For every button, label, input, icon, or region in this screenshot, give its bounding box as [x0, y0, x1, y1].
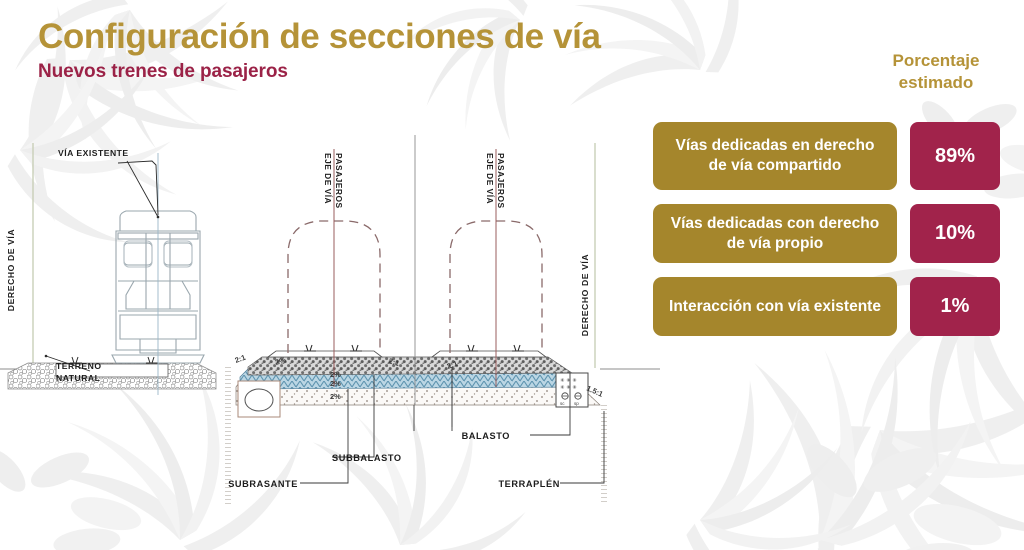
legend-row[interactable]: Vías dedicadas en derecho de vía compart…	[653, 122, 1003, 190]
label-derecho-de-via-left: DERECHO DE VÍA	[6, 229, 16, 311]
label-derecho-de-via-right: DERECHO DE VÍA	[580, 254, 590, 336]
hatch-legend-box: ✳ ✳ ✳ ✳ ✳ ✳ sc sp	[556, 373, 588, 407]
legend-row[interactable]: Interacción con vía existente 1%	[653, 277, 1003, 336]
cross-section-drawing: ✳ ✳ ✳ ✳ ✳ ✳ sc sp 2% 2% 2% 2% 2:1 2:1 2:…	[0, 105, 660, 525]
legend-row-value: 89%	[910, 122, 1000, 190]
svg-text:sp: sp	[574, 401, 579, 406]
label-eje-de-via-1-line2: PASAJEROS	[334, 153, 344, 209]
slope-label: 2:1	[234, 353, 247, 365]
legend-row-label: Vías dedicadas en derecho de vía compart…	[653, 122, 897, 190]
page-title: Configuración de secciones de vía	[38, 18, 601, 55]
embankment-body	[236, 351, 600, 405]
existing-track-bed	[8, 363, 216, 389]
slope-label: 2%	[330, 392, 341, 401]
label-eje-de-via-2-line1: EJE DE VÍA	[485, 153, 496, 204]
label-via-existente: VÍA EXISTENTE	[58, 148, 129, 158]
slope-label: 2%	[330, 379, 341, 388]
culvert-structure	[238, 381, 280, 417]
label-eje-de-via-1-line1: EJE DE VÍA	[323, 153, 334, 204]
label-subrasante: SUBRASANTE	[228, 479, 298, 489]
svg-text:✳ ✳ ✳: ✳ ✳ ✳	[560, 384, 577, 391]
header: Configuración de secciones de vía Nuevos…	[38, 18, 601, 83]
label-terreno-natural-line2: NATURAL	[56, 373, 100, 383]
legend-row-value: 1%	[910, 277, 1000, 336]
svg-text:sc: sc	[560, 401, 565, 406]
legend-row[interactable]: Vías dedicadas con derecho de vía propio…	[653, 204, 1003, 263]
legend-row-value: 10%	[910, 204, 1000, 263]
label-subbalasto: SUBBALASTO	[332, 453, 402, 463]
label-terreno-natural-line1: TERRENO	[56, 361, 102, 371]
label-eje-de-via-2-line2: PASAJEROS	[496, 153, 506, 209]
legend-heading: Porcentaje estimado	[870, 50, 1002, 94]
svg-text:✳ ✳ ✳: ✳ ✳ ✳	[560, 377, 577, 384]
passenger-rails	[304, 345, 524, 351]
page-subtitle: Nuevos trenes de pasajeros	[38, 61, 601, 83]
legend-rows: Vías dedicadas en derecho de vía compart…	[653, 122, 1003, 350]
legend-row-label: Interacción con vía existente	[653, 277, 897, 336]
legend-heading-line1: Porcentaje	[870, 50, 1002, 72]
label-terraplen: TERRAPLÉN	[498, 478, 560, 489]
label-balasto: BALASTO	[462, 431, 510, 441]
legend-heading-line2: estimado	[870, 72, 1002, 94]
via-existente-leader-line	[127, 161, 158, 217]
slope-label: 2%	[330, 370, 341, 379]
legend-row-label: Vías dedicadas con derecho de vía propio	[653, 204, 897, 263]
